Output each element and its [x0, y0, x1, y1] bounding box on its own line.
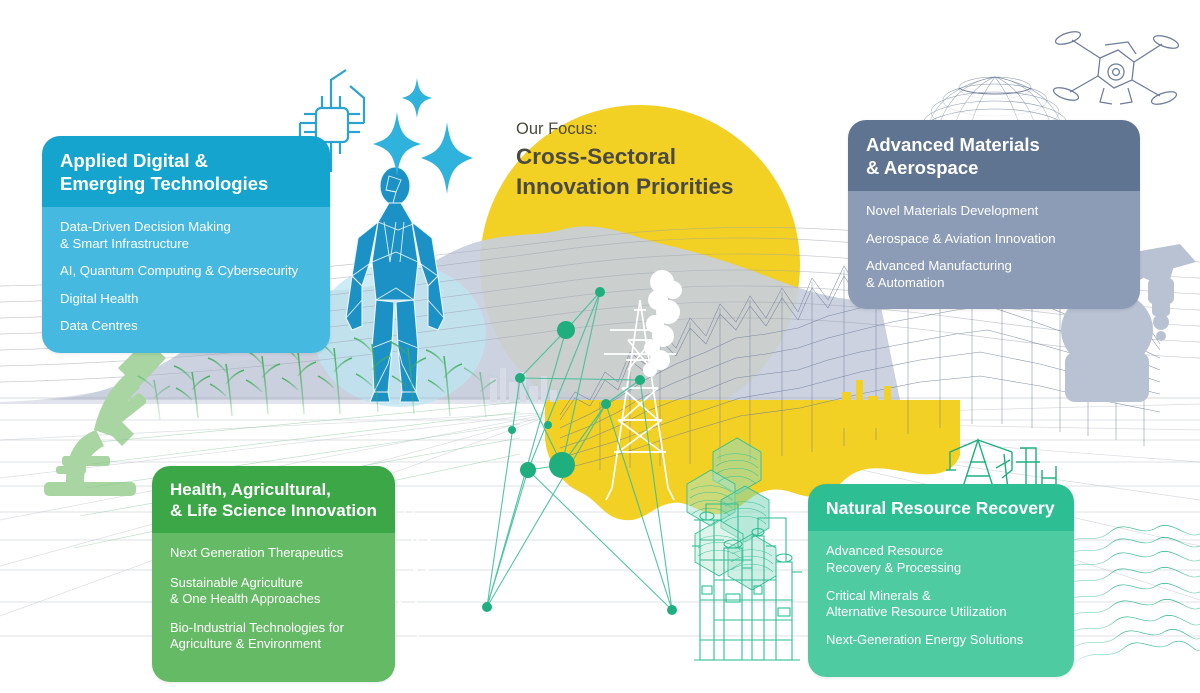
city-skyline-right [842, 380, 905, 428]
card-body-advanced-materials: Novel Materials Development Aerospace & … [848, 191, 1140, 309]
card-header-advanced-materials: Advanced Materials & Aerospace [848, 120, 1140, 191]
card-body-applied-digital: Data-Driven Decision Making& Smart Infra… [42, 207, 330, 353]
list-item[interactable]: Sustainable Agriculture& One Health Appr… [170, 575, 377, 608]
transmission-tower [604, 300, 676, 500]
list-item[interactable]: Critical Minerals &Alternative Resource … [826, 588, 1056, 621]
list-item[interactable]: AI, Quantum Computing & Cybersecurity [60, 263, 312, 280]
refinery-line-art [692, 504, 802, 660]
focus-title-line1: Cross-Sectoral [516, 142, 781, 171]
card-title-line1: Advanced Materials [866, 134, 1122, 157]
card-title-line1: Applied Digital & [60, 150, 312, 173]
card-title-line1: Health, Agricultural, [170, 480, 377, 501]
hexagon-cluster [687, 438, 776, 590]
card-body-natural-resource-recovery: Advanced ResourceRecovery & Processing C… [808, 531, 1074, 676]
list-item[interactable]: Next-Generation Energy Solutions [826, 632, 1056, 648]
card-header-health-agricultural: Health, Agricultural, & Life Science Inn… [152, 466, 395, 533]
oil-pumpjack [946, 440, 1056, 490]
card-header-natural-resource-recovery: Natural Resource Recovery [808, 484, 1074, 531]
focus-title-line2: Innovation Priorities [516, 172, 781, 201]
card-body-health-agricultural: Next Generation Therapeutics Sustainable… [152, 533, 395, 681]
teal-terrain-mesh [1060, 525, 1200, 666]
list-item[interactable]: Aerospace & Aviation Innovation [866, 231, 1122, 248]
list-item[interactable]: Digital Health [60, 291, 312, 308]
list-item[interactable]: Advanced ResourceRecovery & Processing [826, 543, 1056, 576]
list-item[interactable]: Advanced Manufacturing& Automation [866, 258, 1122, 291]
card-health-agricultural[interactable]: Health, Agricultural, & Life Science Inn… [152, 466, 395, 682]
list-item[interactable]: Bio-Industrial Technologies forAgricultu… [170, 620, 377, 653]
network-graph-nodes [482, 287, 677, 615]
list-item[interactable]: Novel Materials Development [866, 203, 1122, 220]
card-applied-digital[interactable]: Applied Digital & Emerging Technologies … [42, 136, 330, 353]
card-title-line1: Natural Resource Recovery [826, 498, 1056, 519]
card-title-line2: & Life Science Innovation [170, 501, 377, 522]
list-item[interactable]: Next Generation Therapeutics [170, 545, 377, 561]
list-item[interactable]: Data-Driven Decision Making& Smart Infra… [60, 219, 312, 252]
focus-prelabel: Our Focus: [516, 119, 781, 140]
card-title-line2: & Aerospace [866, 157, 1122, 180]
blue-blob [314, 263, 486, 407]
card-title-line2: Emerging Technologies [60, 173, 312, 196]
sparkle-stars [373, 78, 473, 194]
card-natural-resource-recovery[interactable]: Natural Resource Recovery Advanced Resou… [808, 484, 1074, 677]
drone-line-art [1052, 29, 1180, 107]
smoke-plume [643, 270, 682, 377]
list-item[interactable]: Data Centres [60, 318, 312, 335]
card-advanced-materials[interactable]: Advanced Materials & Aerospace Novel Mat… [848, 120, 1140, 309]
wireframe-human-figure [346, 167, 444, 402]
focus-heading: Our Focus: Cross-Sectoral Innovation Pri… [516, 119, 781, 201]
card-header-applied-digital: Applied Digital & Emerging Technologies [42, 136, 330, 207]
city-skyline [490, 368, 557, 402]
infographic-canvas: Our Focus: Cross-Sectoral Innovation Pri… [0, 0, 1200, 693]
microscope-silhouette [44, 340, 166, 496]
